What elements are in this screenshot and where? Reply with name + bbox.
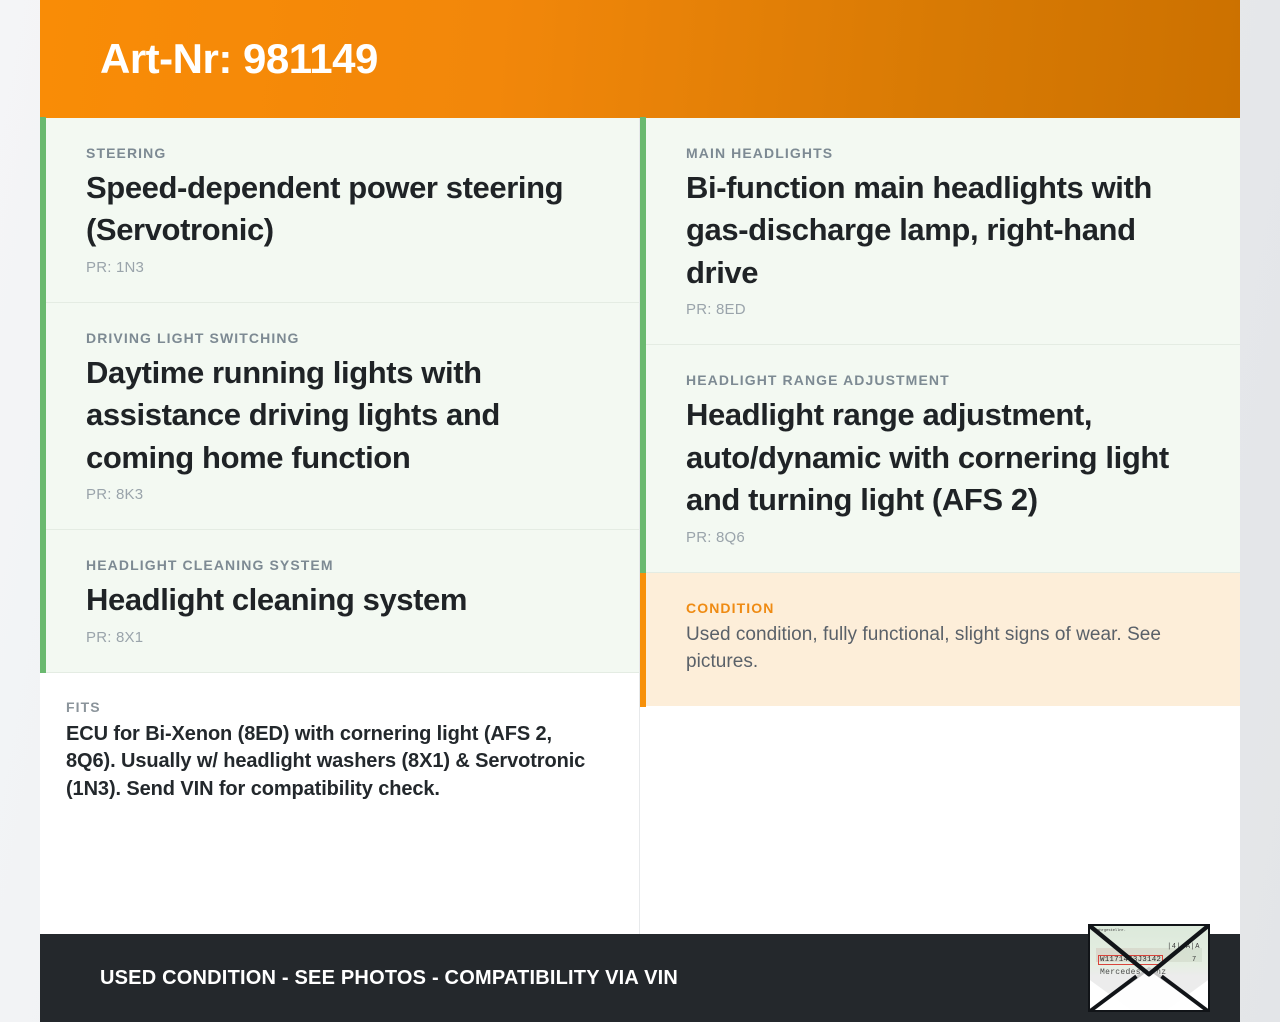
content-area: STEERING Speed-dependent power steering …: [40, 118, 1240, 934]
fits-section: FITS ECU for Bi-Xenon (8ED) with corneri…: [40, 673, 639, 824]
spec-card-main-headlights[interactable]: MAIN HEADLIGHTS Bi-function main headlig…: [640, 118, 1240, 345]
footer-text: USED CONDITION - SEE PHOTOS - COMPATIBIL…: [100, 967, 678, 990]
footer-bar: USED CONDITION - SEE PHOTOS - COMPATIBIL…: [40, 934, 1240, 1022]
spec-card-driving-light-switching[interactable]: DRIVING LIGHT SWITCHING Daytime running …: [40, 303, 639, 530]
right-column-spacer: [640, 706, 1240, 934]
spec-card-pr-code: PR: 8X1: [86, 629, 593, 646]
condition-card[interactable]: CONDITION Used condition, fully function…: [640, 573, 1240, 706]
spec-card-title: Headlight range adjustment, auto/dynamic…: [686, 394, 1194, 521]
left-column-spacer: [40, 824, 639, 934]
spec-card-title: Bi-function main headlights with gas-dis…: [686, 167, 1194, 294]
spec-card-headlight-range-adjustment[interactable]: HEADLIGHT RANGE ADJUSTMENT Headlight ran…: [640, 345, 1240, 572]
left-column: STEERING Speed-dependent power steering …: [40, 118, 640, 934]
header-bar: Art-Nr: 981149: [40, 0, 1240, 118]
condition-label: CONDITION: [686, 600, 1194, 616]
spec-card-label: HEADLIGHT CLEANING SYSTEM: [86, 557, 593, 573]
listing-sheet: Art-Nr: 981149 STEERING Speed-dependent …: [40, 0, 1240, 1022]
fits-text: ECU for Bi-Xenon (8ED) with cornering li…: [66, 721, 593, 804]
envelope-flap-icon: [1090, 926, 1208, 1011]
fits-label: FITS: [66, 699, 593, 715]
spec-card-label: MAIN HEADLIGHTS: [686, 145, 1194, 161]
spec-card-steering[interactable]: STEERING Speed-dependent power steering …: [40, 118, 639, 303]
right-column: MAIN HEADLIGHTS Bi-function main headlig…: [640, 118, 1240, 934]
spec-card-headlight-cleaning-system[interactable]: HEADLIGHT CLEANING SYSTEM Headlight clea…: [40, 530, 639, 672]
spec-card-title: Daytime running lights with assistance d…: [86, 352, 593, 479]
envelope-icon[interactable]: Fahrgestellnr. |4| A|A W1171463J3142 7 M…: [1088, 924, 1210, 1012]
spec-card-label: STEERING: [86, 145, 593, 161]
page-title: Art-Nr: 981149: [100, 38, 378, 80]
spec-card-label: HEADLIGHT RANGE ADJUSTMENT: [686, 372, 1194, 388]
spec-card-pr-code: PR: 8Q6: [686, 529, 1194, 546]
spec-card-title: Speed-dependent power steering (Servotro…: [86, 167, 593, 252]
spec-card-label: DRIVING LIGHT SWITCHING: [86, 330, 593, 346]
condition-text: Used condition, fully functional, slight…: [686, 622, 1194, 676]
spec-card-pr-code: PR: 8K3: [86, 486, 593, 503]
spec-card-title: Headlight cleaning system: [86, 579, 593, 621]
spec-card-pr-code: PR: 1N3: [86, 259, 593, 276]
spec-card-pr-code: PR: 8ED: [686, 301, 1194, 318]
